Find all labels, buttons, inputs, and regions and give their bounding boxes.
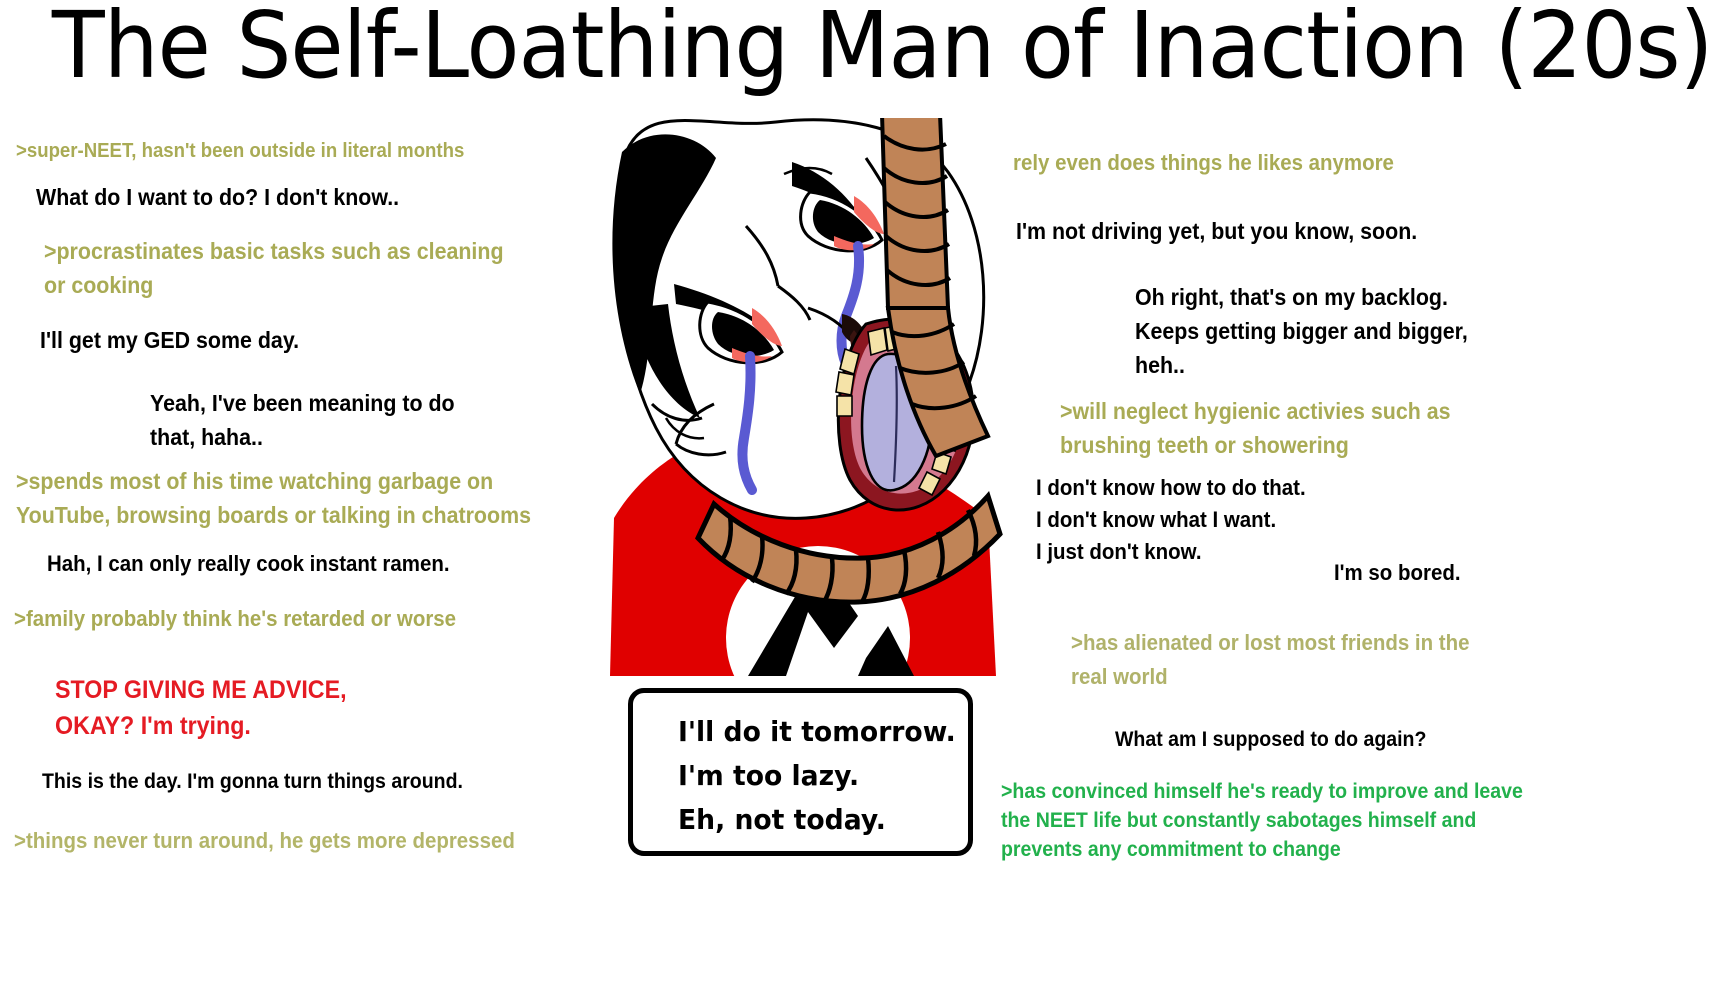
speech-line-lazy: I'm too lazy. [678, 759, 859, 792]
dialogue-supposed-to-do: What am I supposed to do again? [1115, 726, 1426, 754]
dialogue-dont-know-how: I don't know how to do that. [1036, 473, 1306, 503]
dialogue-backlog: Oh right, that's on my backlog. Keeps ge… [1135, 280, 1544, 382]
dialogue-just-dont-know: I just don't know. [1036, 537, 1202, 567]
greentext-line-alienated: >has alienated or lost most friends in t… [1071, 626, 1527, 694]
page-title: The Self-Loathing Man of Inaction (20s) [52, 0, 1678, 98]
wojak-illustration [596, 118, 1016, 676]
greentext-line-convinced: >has convinced himself he's ready to imp… [1001, 777, 1689, 864]
dialogue-not-driving: I'm not driving yet, but you know, soon. [1016, 216, 1417, 246]
greentext-line-youtube: >spends most of his time watching garbag… [16, 464, 593, 532]
dialogue-ged: I'll get my GED some day. [40, 325, 299, 355]
dialogue-stop-giving-advice: STOP GIVING ME ADVICE, OKAY? I'm trying. [55, 672, 501, 744]
dialogue-dont-know-what: I don't know what I want. [1036, 505, 1276, 535]
speech-line-today: Eh, not today. [678, 803, 886, 836]
speech-box: I'll do it tomorrow. I'm too lazy. Eh, n… [628, 688, 973, 856]
dialogue-instant-ramen: Hah, I can only really cook instant rame… [47, 549, 450, 579]
greentext-line-hygiene: >will neglect hygienic activies such as … [1060, 394, 1525, 462]
dialogue-been-meaning: Yeah, I've been meaning to do that, haha… [150, 386, 541, 454]
dialogue-so-bored: I'm so bored. [1334, 558, 1461, 588]
greentext-line-family: >family probably think he's retarded or … [14, 604, 456, 634]
greentext-line-never-turn: >things never turn around, he gets more … [14, 826, 515, 856]
dialogue-what-do-i-want: What do I want to do? I don't know.. [36, 182, 399, 212]
wojak-svg [596, 118, 1016, 676]
speech-line-tomorrow: I'll do it tomorrow. [678, 715, 956, 748]
dialogue-this-is-the-day: This is the day. I'm gonna turn things a… [42, 768, 463, 796]
greentext-line-procrastinates: >procrastinates basic tasks such as clea… [44, 234, 565, 302]
greentext-line-barely-likes: rely even does things he likes anymore [1013, 148, 1394, 178]
greentext-line-neet: >super-NEET, hasn't been outside in lite… [16, 138, 464, 164]
